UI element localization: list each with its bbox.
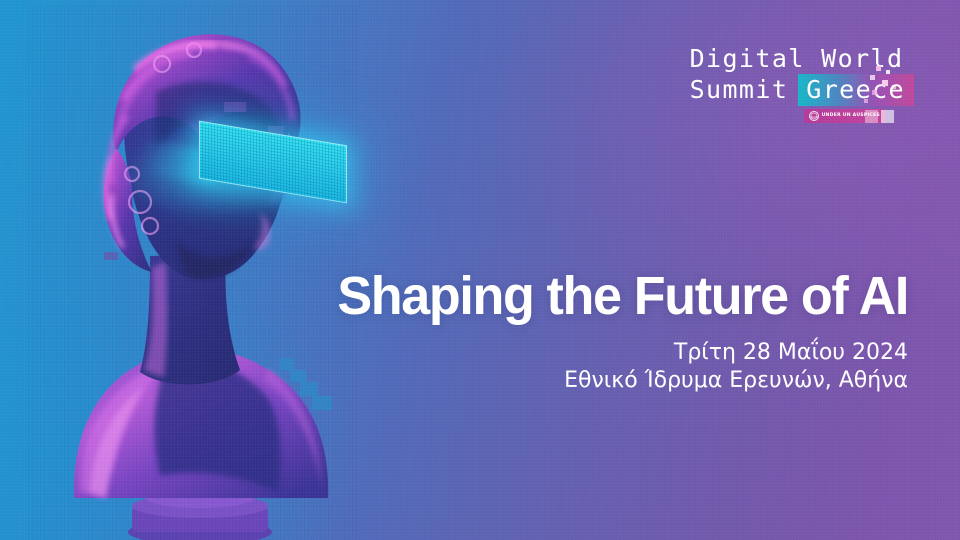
logo-line-2: Summit Greece Under UN Auspices <box>690 74 914 106</box>
page-title: Shaping the Future of AI <box>32 268 908 324</box>
event-venue: Εθνικό Ίδρυμα Ερευνών, Αθήνα <box>0 366 908 396</box>
logo-greece-word: Greece <box>798 74 914 106</box>
un-emblem-icon <box>809 111 819 121</box>
glitch-block <box>312 396 332 410</box>
visor-screen <box>199 121 347 204</box>
bust-pedestal <box>128 488 272 540</box>
visor-edge-highlight <box>199 121 347 204</box>
bust-hair <box>104 34 301 272</box>
vr-visor <box>199 133 347 191</box>
bust-head <box>124 50 290 280</box>
logo-accent-blocks <box>865 110 894 123</box>
logo-line-1: Digital World <box>690 44 914 74</box>
glitch-chip <box>224 102 246 112</box>
logo-summit-word: Summit <box>690 75 789 105</box>
event-logo[interactable]: Digital World Summit Greece Under UN Aus… <box>690 44 914 106</box>
visor-light-beam <box>141 139 213 185</box>
glitch-chip <box>104 252 118 260</box>
glitch-chip <box>268 126 284 135</box>
event-date: Τρίτη 28 Μαΐου 2024 <box>0 338 908 368</box>
visor-pixel-grid <box>199 121 347 204</box>
poster-canvas: Digital World Summit Greece Under UN Aus… <box>0 0 960 540</box>
